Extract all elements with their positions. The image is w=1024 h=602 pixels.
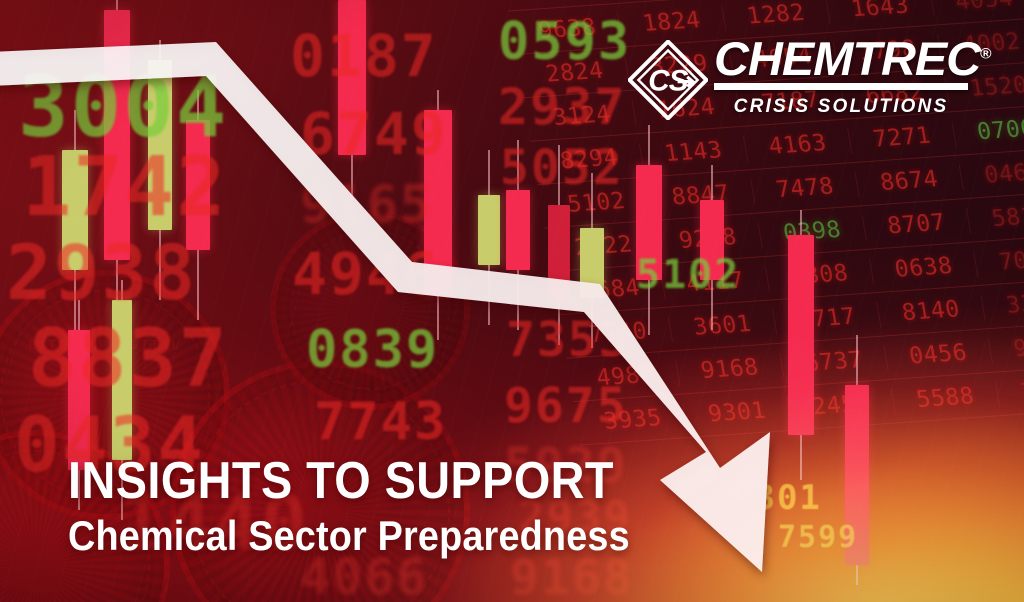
headline-secondary: Chemical Sector Preparedness bbox=[68, 515, 630, 557]
tagline-text: CRISIS SOLUTIONS bbox=[714, 96, 968, 118]
chemtrec-wordmark: CHEMTREC® CRISIS SOLUTIONS bbox=[714, 36, 968, 118]
cs-diamond-icon: CS bbox=[628, 40, 708, 120]
promotional-banner: BITCOIN DIGITAL 762771722535254662378562… bbox=[0, 0, 1024, 602]
registered-mark: ® bbox=[980, 45, 991, 62]
headline-block: INSIGHTS TO SUPPORT Chemical Sector Prep… bbox=[68, 455, 692, 557]
wordmark-text: CHEMTREC® bbox=[714, 36, 976, 81]
chemtrec-logo[interactable]: CS CHEMTREC® CRISIS SOLUTIONS bbox=[628, 34, 968, 134]
headline-primary: INSIGHTS TO SUPPORT bbox=[68, 455, 630, 507]
